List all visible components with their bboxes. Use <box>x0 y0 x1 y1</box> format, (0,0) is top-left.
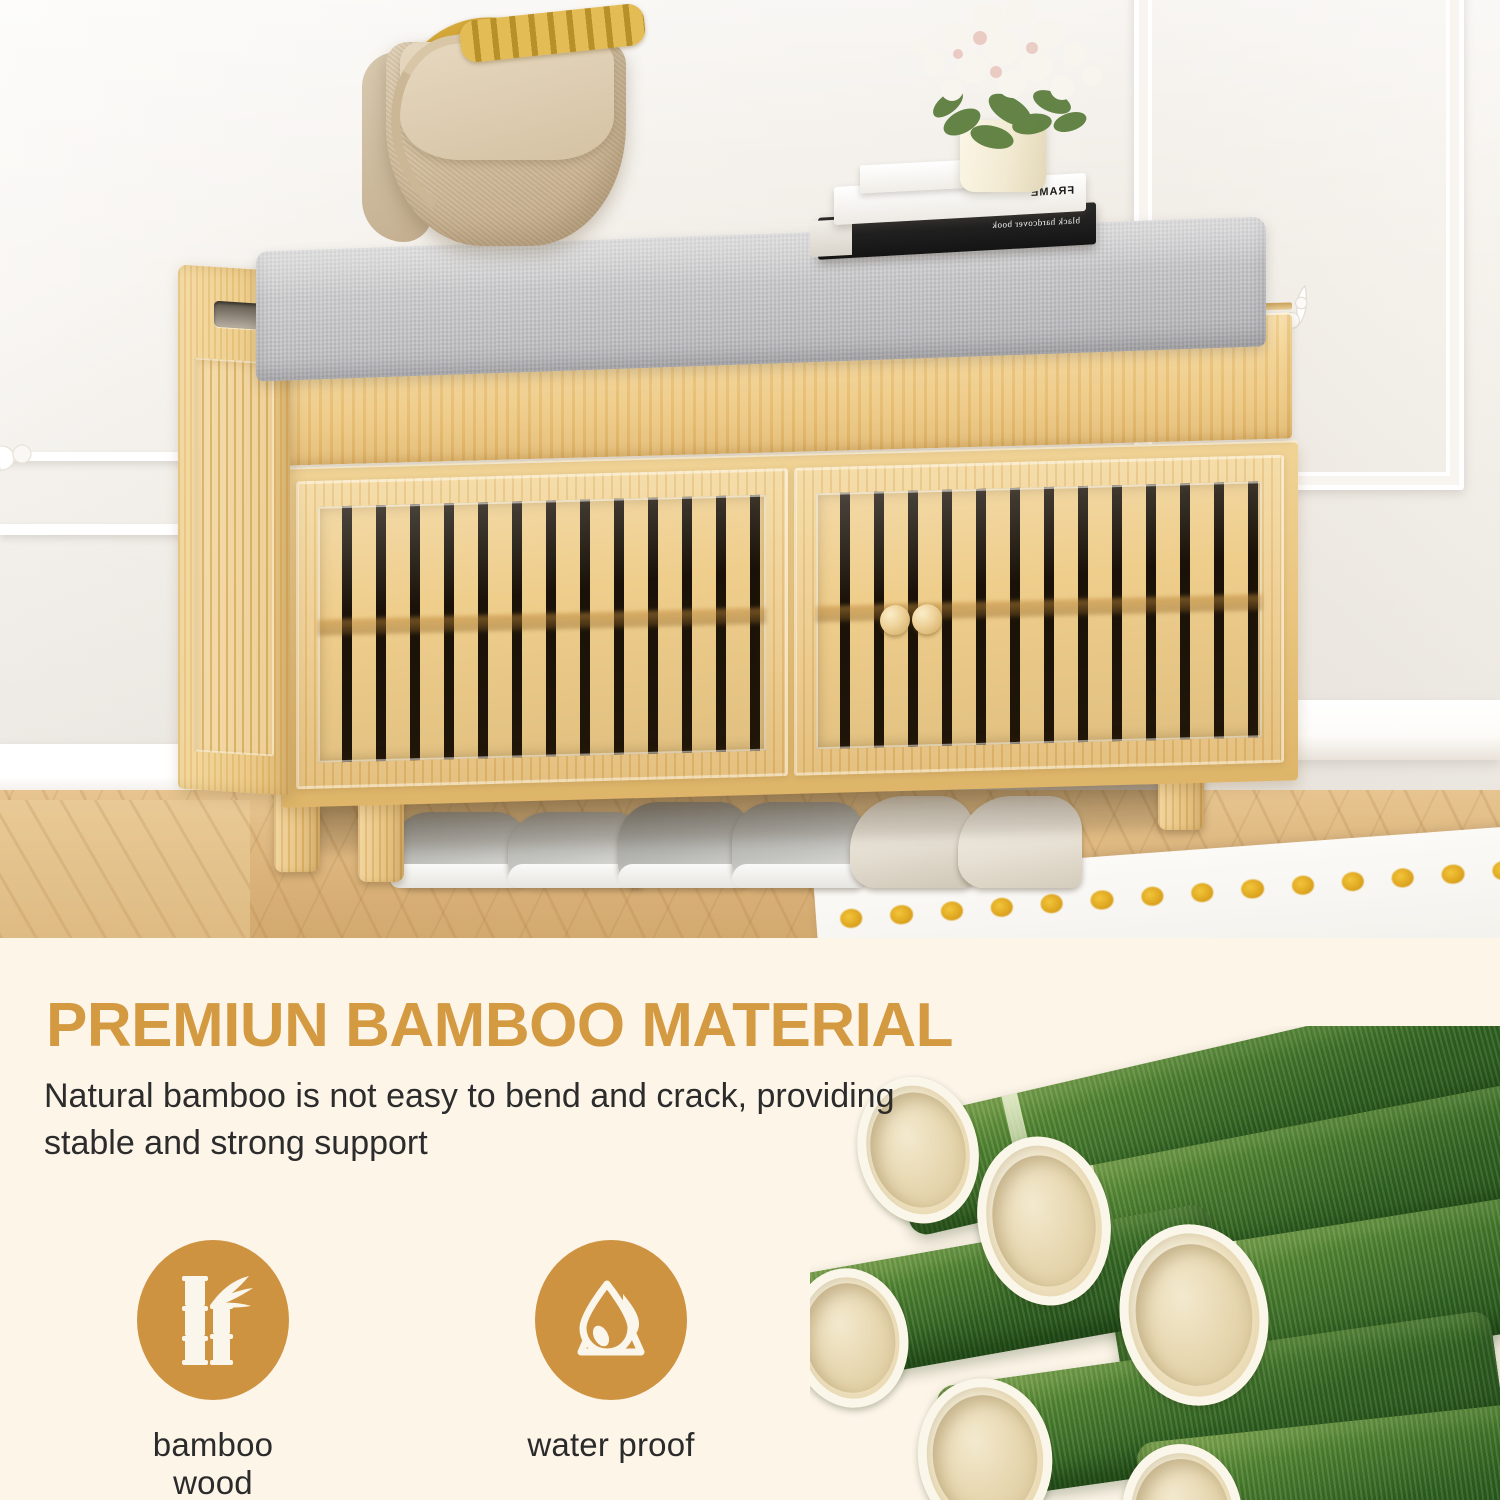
book-stack: black hardcover book FRAME <box>808 158 1108 268</box>
rug-dot <box>1090 889 1114 910</box>
rug-dot <box>890 904 914 925</box>
headline: PREMIUN BAMBOO MATERIAL <box>46 990 953 1061</box>
subheadline: Natural bamboo is not easy to bend and c… <box>44 1073 924 1167</box>
flower-bouquet <box>892 0 1122 172</box>
feature-badge <box>137 1240 289 1400</box>
rug-dot <box>990 897 1014 918</box>
rug-dot <box>1341 871 1365 892</box>
handbag <box>340 8 640 258</box>
bamboo-stalk-icon <box>171 1274 255 1366</box>
rug-dot <box>1241 878 1265 899</box>
parquet-floor-left <box>0 800 250 938</box>
book-spine-text: black hardcover book <box>992 215 1080 230</box>
water-drop-icon <box>565 1274 657 1366</box>
door-slats <box>318 495 766 763</box>
rug-dot <box>839 908 863 929</box>
feature-label: water proof <box>518 1426 704 1464</box>
feature-label: bamboo wood <box>120 1426 306 1500</box>
feature-list: bamboo wood water proof <box>120 1240 704 1500</box>
rug-dot <box>1391 867 1415 888</box>
cabinet-door-left[interactable] <box>296 468 788 789</box>
feature-bamboo-wood: bamboo wood <box>120 1240 306 1500</box>
side-panel-slat-inset <box>194 357 274 756</box>
rug-dot <box>1441 863 1465 884</box>
rug-dot <box>940 900 964 921</box>
lifestyle-scene: black hardcover book FRAME <box>0 0 1500 938</box>
rug-dot <box>1491 860 1500 881</box>
feature-water-proof: water proof <box>518 1240 704 1500</box>
info-panel: PREMIUN BAMBOO MATERIAL Natural bamboo i… <box>0 938 1500 1500</box>
rug-dot <box>1291 874 1315 895</box>
rug-dot <box>1040 893 1064 914</box>
rug-dot <box>1140 886 1164 907</box>
bench-cabinet <box>282 440 1298 807</box>
left-molding-rosette-icon <box>0 430 52 492</box>
rug-dot <box>1191 882 1215 903</box>
cabinet-door-right[interactable] <box>794 455 1284 776</box>
bench-leg <box>358 798 404 882</box>
storage-bench[interactable] <box>178 240 1308 820</box>
product-infographic: black hardcover book FRAME <box>0 0 1500 1500</box>
feature-badge <box>535 1240 687 1400</box>
